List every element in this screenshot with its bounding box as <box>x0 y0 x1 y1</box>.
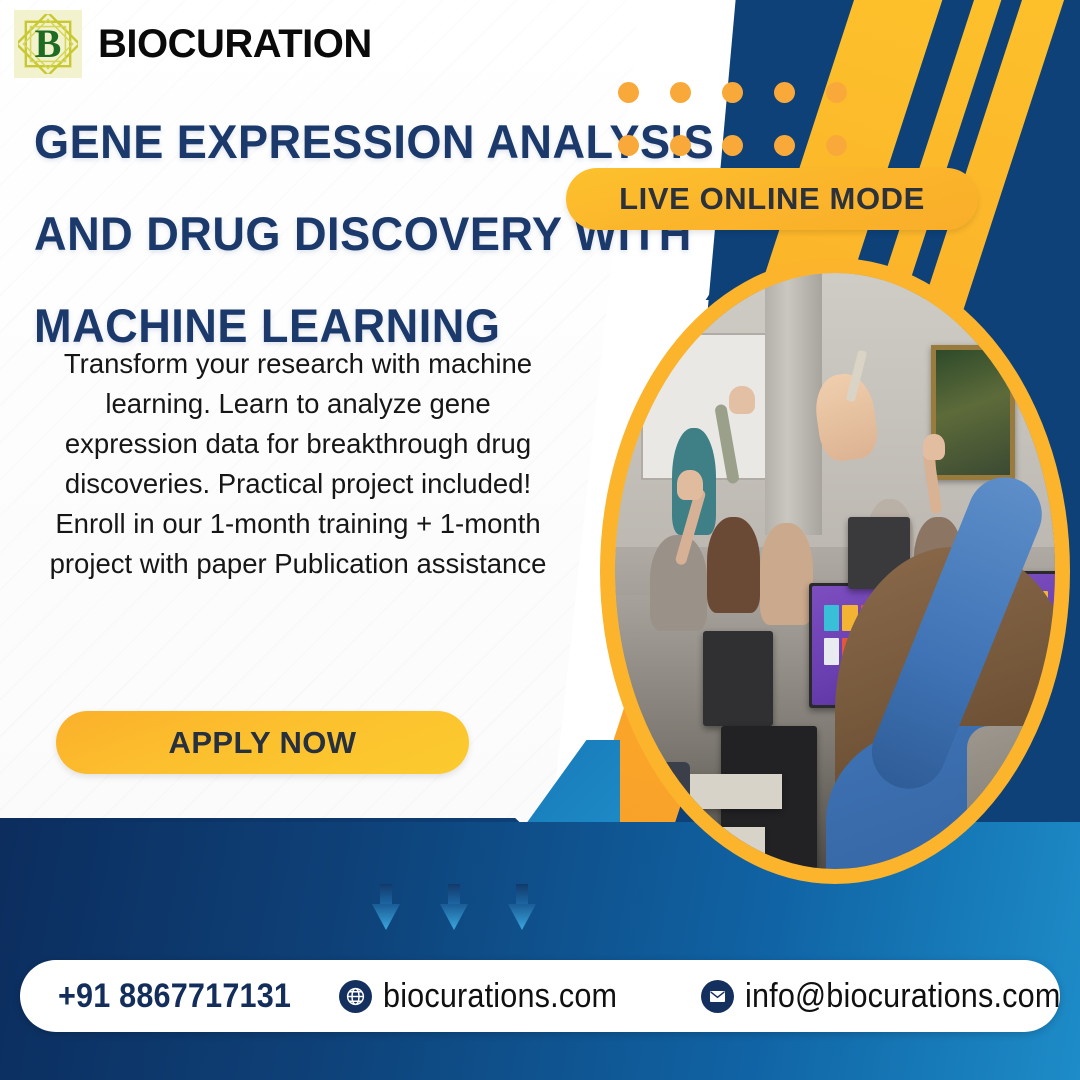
contact-bar: +91 8867717131 biocurations.com <box>20 960 1060 1032</box>
globe-icon <box>339 980 372 1013</box>
website-url: biocurations.com <box>383 977 617 1016</box>
phone-number: +91 8867717131 <box>58 977 291 1016</box>
logo-letter: B <box>35 24 62 64</box>
apply-now-button[interactable]: APPLY NOW <box>56 711 469 774</box>
classroom-scene <box>615 273 1055 869</box>
classroom-photo <box>600 258 1070 884</box>
dot <box>774 135 795 156</box>
dot <box>826 82 847 103</box>
headline-line-2: AND DRUG DISCOVERY WITH <box>34 188 543 280</box>
description-text: Transform your research with machine lea… <box>48 344 548 584</box>
contact-email[interactable]: info@biocurations.com <box>701 977 1080 1016</box>
arrow-row <box>372 884 536 930</box>
biocuration-logo: B <box>14 10 82 78</box>
arrow-down-icon <box>508 884 536 930</box>
contact-phone[interactable]: +91 8867717131 <box>58 977 317 1016</box>
dot <box>618 82 639 103</box>
email-address: info@biocurations.com <box>745 977 1060 1016</box>
promotional-poster: B BIOCURATION GENE EXPRESSION ANALYSIS A… <box>0 0 1080 1080</box>
live-online-mode-badge: LIVE ONLINE MODE <box>566 168 978 230</box>
dot <box>670 135 691 156</box>
dot <box>826 135 847 156</box>
photo-clip <box>615 273 1055 869</box>
apply-now-label: APPLY NOW <box>169 725 357 761</box>
dot <box>618 135 639 156</box>
dot <box>774 82 795 103</box>
dot <box>722 135 743 156</box>
arrow-down-icon <box>440 884 468 930</box>
live-online-mode-label: LIVE ONLINE MODE <box>619 181 925 217</box>
headline-line-1: GENE EXPRESSION ANALYSIS <box>34 96 543 188</box>
brand-name: BIOCURATION <box>98 22 372 67</box>
envelope-icon <box>701 980 734 1013</box>
dot <box>670 82 691 103</box>
contact-website[interactable]: biocurations.com <box>339 977 643 1016</box>
page-title: GENE EXPRESSION ANALYSIS AND DRUG DISCOV… <box>34 96 564 372</box>
dot <box>722 82 743 103</box>
arrow-down-icon <box>372 884 400 930</box>
brand-header: B BIOCURATION <box>14 10 372 78</box>
